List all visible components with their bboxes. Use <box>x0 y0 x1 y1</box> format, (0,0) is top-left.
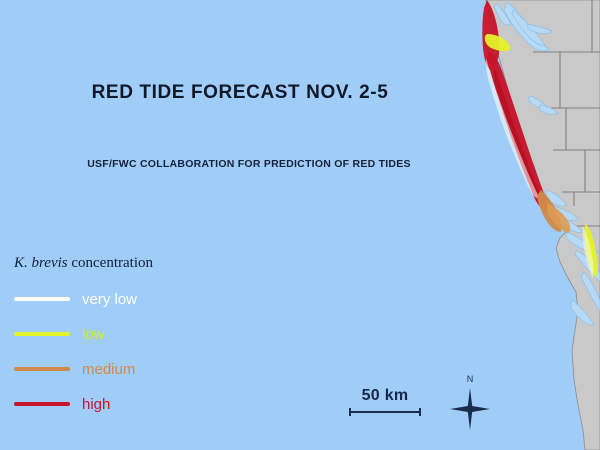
scale-bar-line <box>349 411 421 413</box>
legend-swatch-very-low <box>14 297 70 301</box>
legend-label-medium: medium <box>82 362 135 377</box>
page-title: RED TIDE FORECAST NOV. 2-5 <box>0 82 480 104</box>
legend-item-high: high <box>14 390 234 418</box>
subtitle: USF/FWC COLLABORATION FOR PREDICTION OF … <box>0 158 498 170</box>
legend-item-low: low <box>14 320 234 348</box>
legend-label-very-low: very low <box>82 292 137 307</box>
scale-bar: 50 km <box>349 387 421 416</box>
legend-title-species: K. brevis <box>14 255 68 271</box>
red-tide-forecast-map: RED TIDE FORECAST NOV. 2-5 USF/FWC COLLA… <box>0 0 600 450</box>
north-arrow-icon <box>448 386 492 432</box>
legend: K. brevis concentration very low low med… <box>14 255 234 425</box>
legend-swatch-high <box>14 402 70 406</box>
legend-title-rest: concentration <box>68 255 153 271</box>
legend-item-medium: medium <box>14 355 234 383</box>
scale-bar-tick-right <box>419 408 421 416</box>
landmass-florida <box>486 0 600 450</box>
scale-bar-graphic <box>349 408 421 416</box>
scale-bar-label: 50 km <box>349 387 421 405</box>
legend-label-low: low <box>82 327 105 342</box>
compass-rose: N <box>448 374 492 432</box>
legend-label-high: high <box>82 397 110 412</box>
legend-item-very-low: very low <box>14 285 234 313</box>
scale-bar-tick-left <box>349 408 351 416</box>
legend-swatch-medium <box>14 367 70 371</box>
legend-title: K. brevis concentration <box>14 255 234 272</box>
legend-swatch-low <box>14 332 70 336</box>
compass-north-label: N <box>448 374 492 384</box>
